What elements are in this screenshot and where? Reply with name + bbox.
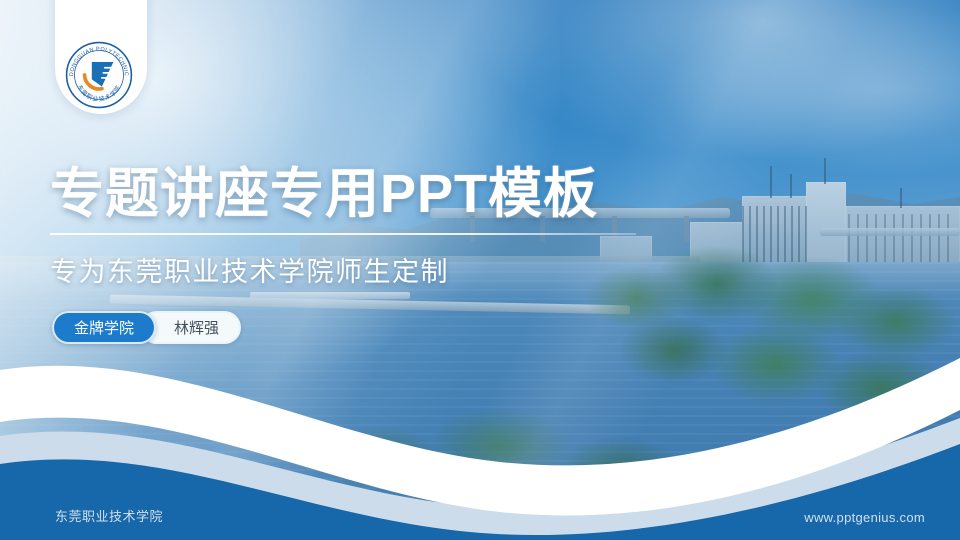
dongguan-polytechnic-logo: DONGGUAN POLYTECHNIC 东莞职业技术学院 bbox=[63, 39, 135, 111]
footer-institution: 东莞职业技术学院 bbox=[55, 506, 163, 525]
presentation-cover-slide: DONGGUAN POLYTECHNIC 东莞职业技术学院 专题讲座专用PPT模… bbox=[0, 0, 960, 540]
tag-pill-category[interactable]: 金牌学院 bbox=[52, 311, 156, 344]
page-title: 专题讲座专用PPT模板 bbox=[50, 166, 598, 223]
page-subtitle: 专为东莞职业技术学院师生定制 bbox=[50, 250, 449, 289]
tag-pill-group: 金牌学院 林辉强 bbox=[52, 311, 241, 344]
footer-website[interactable]: www.pptgenius.com bbox=[804, 510, 925, 525]
title-divider bbox=[50, 233, 636, 235]
